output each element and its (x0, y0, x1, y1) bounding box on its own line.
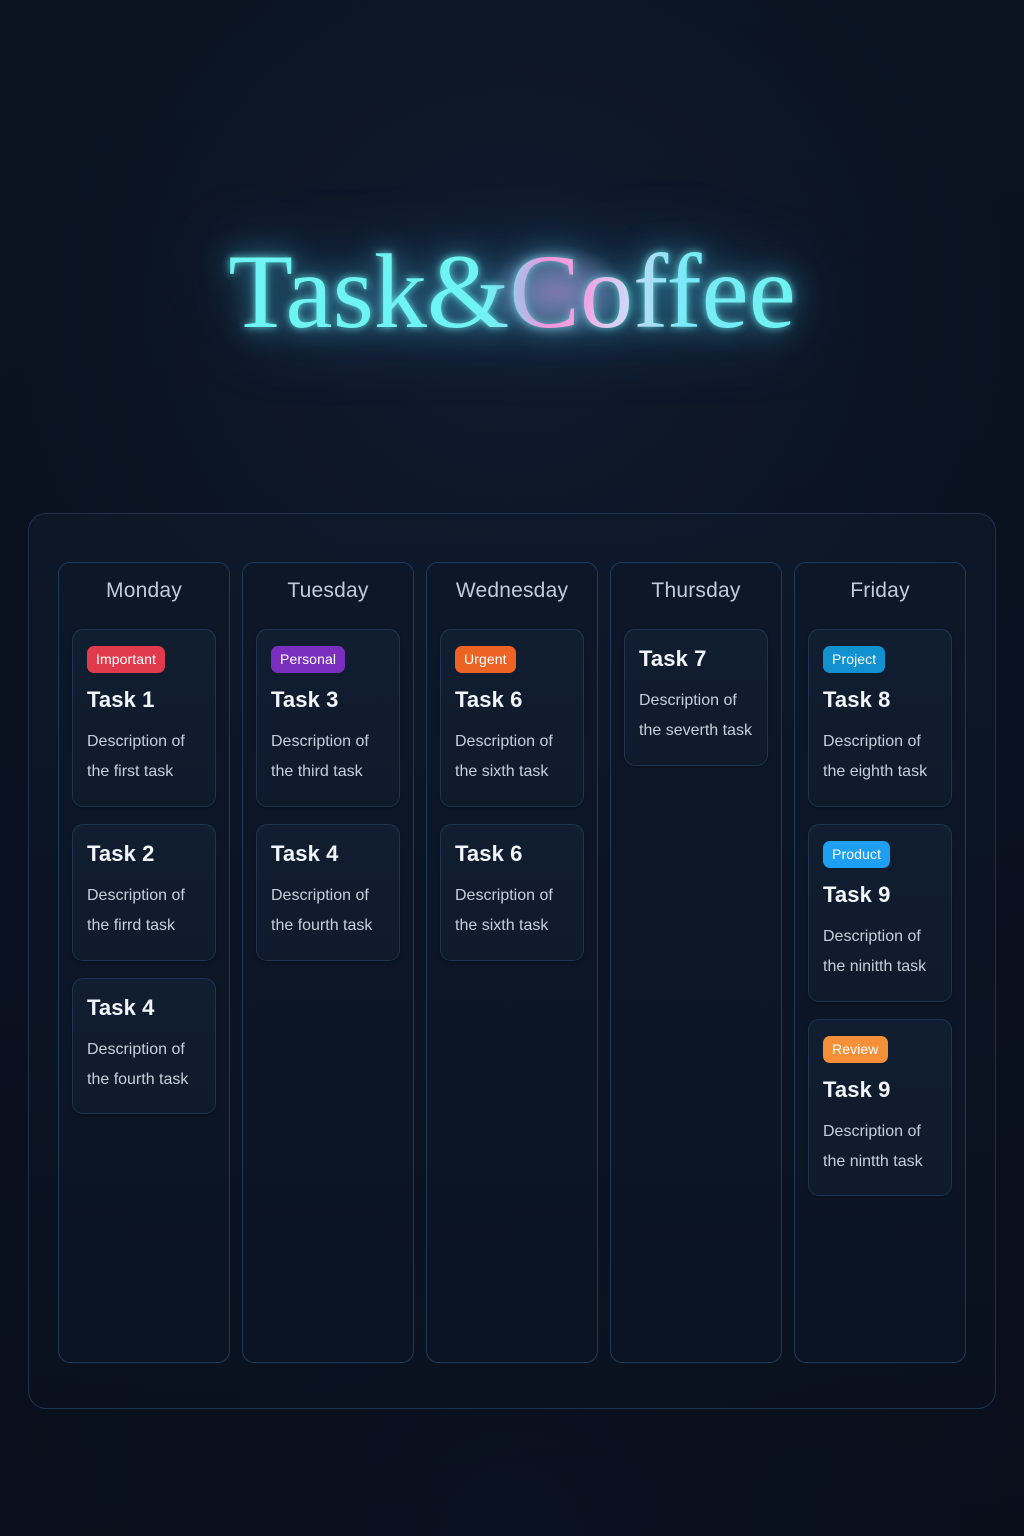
task-title: Task 3 (271, 687, 385, 713)
task-card[interactable]: PersonalTask 3Description of the third t… (256, 629, 400, 807)
day-column-monday[interactable]: MondayImportantTask 1Description of the … (58, 562, 230, 1363)
day-column-tuesday[interactable]: TuesdayPersonalTask 3Description of the … (242, 562, 414, 1363)
day-column-friday[interactable]: FridayProjectTask 8Description of the ei… (794, 562, 966, 1363)
day-column-title: Thursday (624, 579, 768, 603)
task-description: Description of the severth task (639, 686, 753, 747)
task-card-list: ProjectTask 8Description of the eighth t… (808, 629, 952, 1196)
task-description: Description of the third task (271, 727, 385, 788)
task-card[interactable]: Task 7Description of the severth task (624, 629, 768, 766)
day-column-thursday[interactable]: ThursdayTask 7Description of the severth… (610, 562, 782, 1363)
day-column-title: Wednesday (440, 579, 584, 603)
task-card[interactable]: UrgentTask 6Description of the sixth tas… (440, 629, 584, 807)
day-column-wednesday[interactable]: WednesdayUrgentTask 6Description of the … (426, 562, 598, 1363)
task-badge[interactable]: Review (823, 1036, 888, 1063)
task-description: Description of the first task (87, 727, 201, 788)
task-card[interactable]: Task 2Description of the firrd task (72, 824, 216, 961)
day-column-title: Friday (808, 579, 952, 603)
task-title: Task 4 (271, 841, 385, 867)
app-title: Task&Coffee (228, 239, 796, 345)
task-description: Description of the fourth task (271, 881, 385, 942)
task-description: Description of the fourth task (87, 1035, 201, 1096)
day-column-title: Tuesday (256, 579, 400, 603)
day-column-title: Monday (72, 579, 216, 603)
task-title: Task 7 (639, 646, 753, 672)
day-columns: MondayImportantTask 1Description of the … (58, 562, 966, 1363)
app-title-container: Task&Coffee (0, 222, 1024, 362)
task-title: Task 9 (823, 1077, 937, 1103)
weekly-task-board: MondayImportantTask 1Description of the … (28, 513, 996, 1409)
task-description: Description of the sixth task (455, 727, 569, 788)
task-title: Task 8 (823, 687, 937, 713)
task-card[interactable]: ProjectTask 8Description of the eighth t… (808, 629, 952, 807)
app-title-text: Task&Coffee (228, 233, 796, 350)
task-description: Description of the firrd task (87, 881, 201, 942)
task-card[interactable]: ReviewTask 9Description of the nintth ta… (808, 1019, 952, 1197)
task-card[interactable]: Task 4Description of the fourth task (72, 978, 216, 1115)
task-description: Description of the ninitth task (823, 922, 937, 983)
task-card[interactable]: Task 6Description of the sixth task (440, 824, 584, 961)
task-card[interactable]: ProductTask 9Description of the ninitth … (808, 824, 952, 1002)
task-title: Task 9 (823, 882, 937, 908)
task-card-list: PersonalTask 3Description of the third t… (256, 629, 400, 961)
task-card-list: Task 7Description of the severth task (624, 629, 768, 766)
task-card-list: UrgentTask 6Description of the sixth tas… (440, 629, 584, 961)
task-title: Task 6 (455, 687, 569, 713)
task-badge[interactable]: Urgent (455, 646, 516, 673)
task-title: Task 6 (455, 841, 569, 867)
task-badge[interactable]: Product (823, 841, 890, 868)
task-card[interactable]: Task 4Description of the fourth task (256, 824, 400, 961)
task-title: Task 1 (87, 687, 201, 713)
task-card-list: ImportantTask 1Description of the first … (72, 629, 216, 1114)
task-badge[interactable]: Project (823, 646, 885, 673)
task-badge[interactable]: Important (87, 646, 165, 673)
task-badge[interactable]: Personal (271, 646, 345, 673)
task-description: Description of the sixth task (455, 881, 569, 942)
task-title: Task 4 (87, 995, 201, 1021)
task-title: Task 2 (87, 841, 201, 867)
task-card[interactable]: ImportantTask 1Description of the first … (72, 629, 216, 807)
task-description: Description of the nintth task (823, 1117, 937, 1178)
task-description: Description of the eighth task (823, 727, 937, 788)
